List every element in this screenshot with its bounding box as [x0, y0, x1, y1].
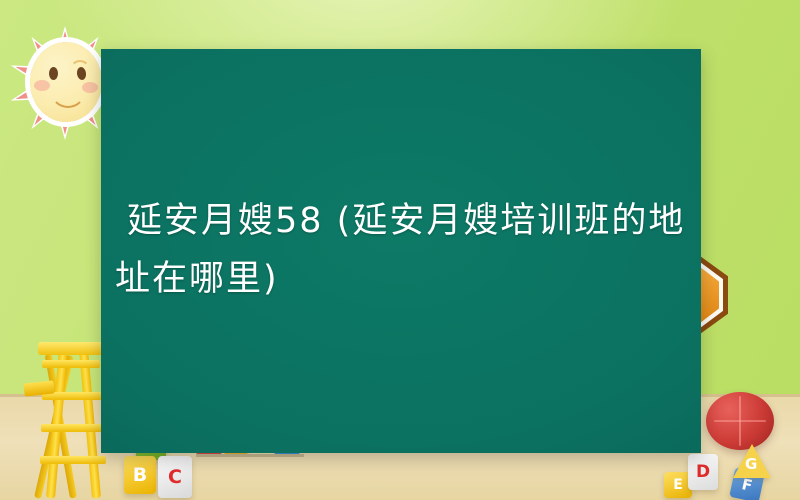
red-ball-icon [706, 392, 774, 450]
sun-blush-left [34, 80, 50, 91]
sun-brow [70, 60, 90, 73]
chalkboard: 延安月嫂58 (延安月嫂培训班的地址在哪里) [101, 49, 701, 453]
sun-face [30, 42, 102, 122]
ladder-step-1 [42, 360, 100, 368]
alphabet-block-c: C [158, 456, 192, 498]
banner-canvas: A B C [0, 0, 800, 500]
ladder-step-4 [40, 456, 106, 464]
alphabet-block-d: D [688, 454, 718, 490]
ladder-top-plate [38, 342, 108, 355]
sun-eye-left [49, 67, 58, 80]
block-letter-d: D [688, 454, 718, 490]
sun-smile [50, 84, 86, 108]
triangle-toy-g: G [733, 444, 771, 478]
ladder-step-3 [41, 424, 104, 432]
block-letter-g: G [745, 455, 757, 473]
block-letter-b: B [124, 456, 156, 494]
block-letter-c: C [158, 456, 192, 498]
chalkboard-headline: 延安月嫂58 (延安月嫂培训班的地址在哪里) [115, 192, 687, 308]
alphabet-block-b: B [124, 456, 156, 494]
